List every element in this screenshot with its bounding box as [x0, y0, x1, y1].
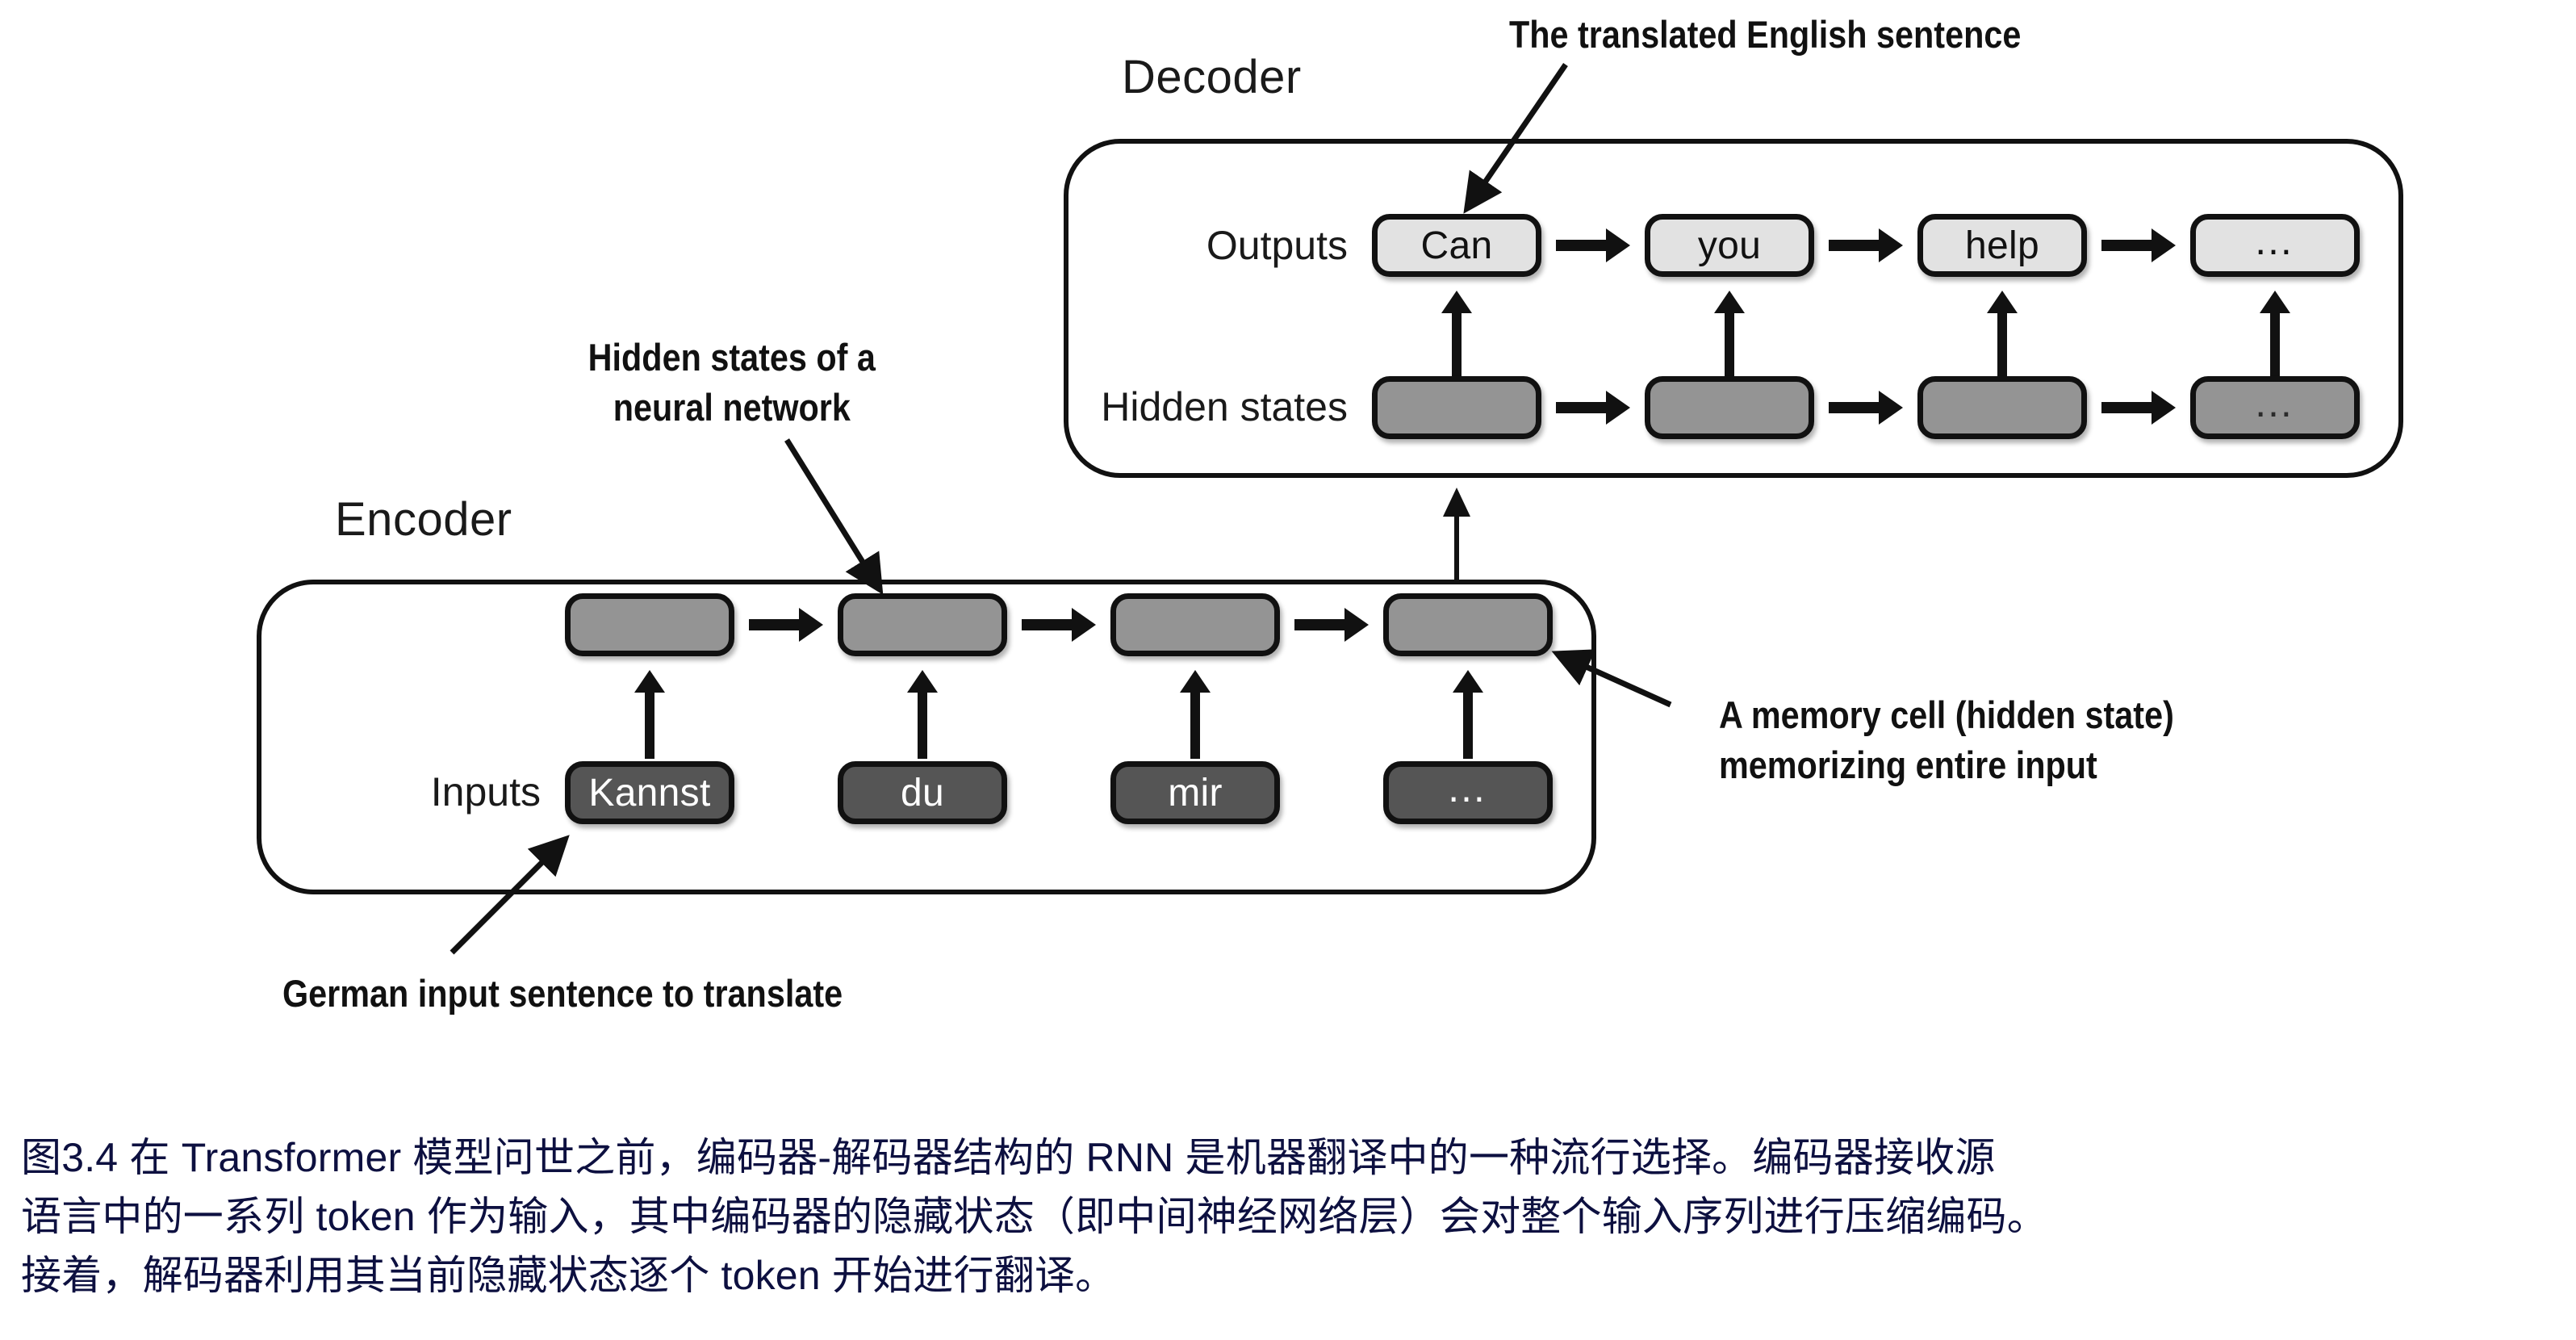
encoder-input-text-1: du	[901, 771, 944, 815]
arrow-shaft	[1829, 402, 1879, 413]
callout-german-input: German input sentence to translate	[282, 969, 843, 1019]
arrow-shaft	[1454, 512, 1459, 584]
decoder-output-text-1: you	[1698, 224, 1761, 268]
arrow-head	[1180, 670, 1211, 693]
arrow-shaft	[1556, 402, 1606, 413]
arrow-shaft	[918, 693, 927, 759]
encoder-hidden-cell-2[interactable]	[1110, 593, 1280, 656]
encoder-input-text-3: …	[1446, 776, 1490, 800]
decoder-outputs-label: Outputs	[1154, 222, 1348, 269]
decoder-hidden-cell-2[interactable]	[1917, 376, 2087, 439]
arrow-shaft	[2270, 313, 2280, 379]
arrow-head	[799, 608, 823, 642]
encoder-hidden-cell-3[interactable]	[1383, 593, 1553, 656]
arrow-shaft	[1997, 313, 2007, 379]
arrow-shaft	[1556, 240, 1606, 251]
arrow-head	[1879, 391, 1903, 425]
arrow-shaft	[1829, 240, 1879, 251]
decoder-output-cell-0[interactable]: Can	[1372, 214, 1541, 277]
encoder-hidden-cell-1[interactable]	[838, 593, 1007, 656]
arrow-shaft	[645, 693, 654, 759]
arrow-head	[1072, 608, 1096, 642]
arrow-shaft	[1725, 313, 1734, 379]
decoder-hidden-cell-1[interactable]	[1645, 376, 1814, 439]
encoder-input-cell-3[interactable]: …	[1383, 761, 1553, 824]
callout-hidden-states-line1: Hidden states of a	[588, 336, 876, 379]
caption-line-1: 图3.4 在 Transformer 模型问世之前，编码器-解码器结构的 RNN…	[21, 1129, 2563, 1187]
decoder-hidden-cell-0[interactable]	[1372, 376, 1541, 439]
encoder-title: Encoder	[335, 492, 512, 546]
encoder-hidden-cell-0[interactable]	[565, 593, 734, 656]
decoder-title: Decoder	[1122, 50, 1302, 104]
caption-line-2: 语言中的一系列 token 作为输入，其中编码器的隐藏状态（即中间神经网络层）会…	[21, 1187, 2563, 1246]
decoder-output-cell-1[interactable]: you	[1645, 214, 1814, 277]
callout-memory-cell-line2: memorizing entire input	[1719, 743, 2097, 786]
callout-arrow-hidden-states	[787, 440, 880, 589]
arrow-head	[1453, 670, 1483, 693]
arrow-head	[1441, 291, 1472, 313]
figure-caption: 图3.4 在 Transformer 模型问世之前，编码器-解码器结构的 RNN…	[21, 1129, 2563, 1305]
arrow-head	[1987, 291, 2018, 313]
callout-translated-sentence: The translated English sentence	[1509, 10, 2021, 60]
encoder-input-cell-2[interactable]: mir	[1110, 761, 1280, 824]
arrow-head	[1606, 391, 1630, 425]
arrow-shaft	[749, 619, 799, 630]
callout-hidden-states: Hidden states of a neural network	[565, 333, 899, 433]
arrow-head	[1344, 608, 1369, 642]
arrow-shaft	[2101, 402, 2152, 413]
decoder-output-cell-3[interactable]: …	[2190, 214, 2360, 277]
arrow-head	[2152, 391, 2176, 425]
callout-hidden-states-line2: neural network	[613, 386, 851, 429]
arrow-shaft	[2101, 240, 2152, 251]
arrow-head	[1714, 291, 1745, 313]
decoder-hidden-cell-3[interactable]: …	[2190, 376, 2360, 439]
caption-line-3: 接着，解码器利用其当前隐藏状态逐个 token 开始进行翻译。	[21, 1246, 2563, 1305]
decoder-hidden-label: Hidden states	[1073, 383, 1348, 430]
encoder-input-text-2: mir	[1168, 771, 1223, 815]
arrow-shaft	[1190, 693, 1200, 759]
arrow-shaft	[1452, 313, 1462, 379]
encoder-input-cell-0[interactable]: Kannst	[565, 761, 734, 824]
decoder-output-text-2: help	[1965, 224, 2039, 268]
decoder-hidden-text-3: …	[2253, 391, 2297, 415]
callout-memory-cell: A memory cell (hidden state) memorizing …	[1719, 690, 2174, 790]
arrow-head	[1443, 488, 1470, 517]
arrow-head	[907, 670, 938, 693]
arrow-shaft	[1463, 693, 1473, 759]
encoder-inputs-label: Inputs	[347, 768, 541, 815]
arrow-head	[634, 670, 665, 693]
arrow-shaft	[1294, 619, 1344, 630]
arrow-head	[2152, 228, 2176, 262]
arrow-head	[2260, 291, 2290, 313]
encoder-input-text-0: Kannst	[588, 771, 710, 815]
arrow-head	[1879, 228, 1903, 262]
decoder-output-text-3: …	[2253, 228, 2297, 253]
decoder-output-text-0: Can	[1421, 224, 1493, 268]
arrow-shaft	[1022, 619, 1072, 630]
arrow-head	[1606, 228, 1630, 262]
encoder-input-cell-1[interactable]: du	[838, 761, 1007, 824]
callout-memory-cell-line1: A memory cell (hidden state)	[1719, 693, 2174, 736]
decoder-output-cell-2[interactable]: help	[1917, 214, 2087, 277]
